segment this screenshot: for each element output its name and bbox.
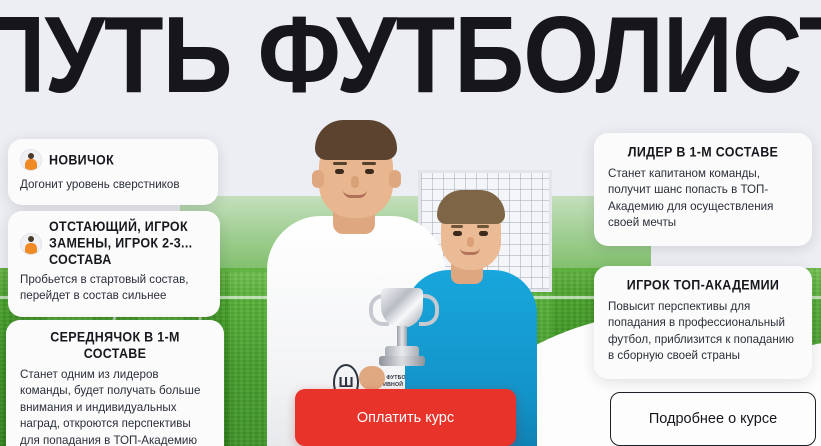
coach-ear-right: [389, 170, 401, 188]
card-title: СЕРЕДНЯЧОК В 1-М СОСТАВЕ: [20, 330, 210, 363]
card-text: Станет одним из лидеров команды, будет п…: [20, 367, 210, 446]
card-average-first-team[interactable]: СЕРЕДНЯЧОК В 1-М СОСТАВЕ Станет одним из…: [6, 320, 224, 446]
coach-brow-left: [333, 162, 347, 165]
more-about-course-button[interactable]: Подробнее о курсе: [610, 392, 816, 446]
card-title: ОТСТАЮЩИЙ, ИГРОК ЗАМЕНЫ, ИГРОК 2-3... СО…: [49, 219, 208, 269]
card-header: ОТСТАЮЩИЙ, ИГРОК ЗАМЕНЫ, ИГРОК 2-3... СО…: [20, 221, 208, 266]
coach-nose: [351, 176, 359, 188]
card-text: Пробьется в стартовый состав, перейдет в…: [20, 272, 208, 305]
card-text: Повысит перспективы для попадания в проф…: [608, 299, 798, 365]
trophy-base-bottom: [379, 356, 425, 366]
player-eye-left: [453, 231, 462, 236]
coach-eye-left: [335, 169, 344, 174]
player-badge-icon: [20, 233, 42, 255]
card-title: НОВИЧОК: [49, 152, 114, 169]
card-text: Догонит уровень сверстников: [20, 177, 206, 193]
card-title: ИГРОК ТОП-АКАДЕМИИ: [608, 277, 798, 294]
card-title: ЛИДЕР В 1-М СОСТАВЕ: [608, 144, 798, 161]
card-top-academy-player[interactable]: ИГРОК ТОП-АКАДЕМИИ Повысит перспективы д…: [594, 266, 812, 379]
card-text: Станет капитаном команды, получит шанс п…: [608, 166, 798, 232]
coach-hair: [315, 120, 397, 160]
player-badge-icon: [20, 149, 42, 171]
card-novice[interactable]: НОВИЧОК Догонит уровень сверстников: [8, 139, 218, 205]
pay-course-button[interactable]: Оплатить курс: [295, 389, 516, 446]
landing-hero-stage: ПУТЬ ФУТБОЛИСТА Ш: [0, 0, 821, 446]
player-brow-left: [451, 225, 463, 228]
player-eye-right: [479, 231, 488, 236]
coach-ear-left: [312, 170, 324, 188]
card-leader-first-team[interactable]: ЛИДЕР В 1-М СОСТАВЕ Станет капитаном ком…: [594, 133, 812, 246]
player-hair: [437, 190, 505, 224]
coach-eye-right: [365, 169, 374, 174]
player-hand: [359, 366, 385, 390]
trophy-cup: [381, 288, 423, 328]
coach-brow-right: [362, 162, 376, 165]
trophy-stem: [397, 326, 407, 348]
card-header: НОВИЧОК: [20, 149, 206, 171]
card-lagging-player[interactable]: ОТСТАЮЩИЙ, ИГРОК ЗАМЕНЫ, ИГРОК 2-3... СО…: [8, 211, 220, 317]
player-brow-right: [477, 225, 489, 228]
player-nose: [467, 237, 474, 247]
